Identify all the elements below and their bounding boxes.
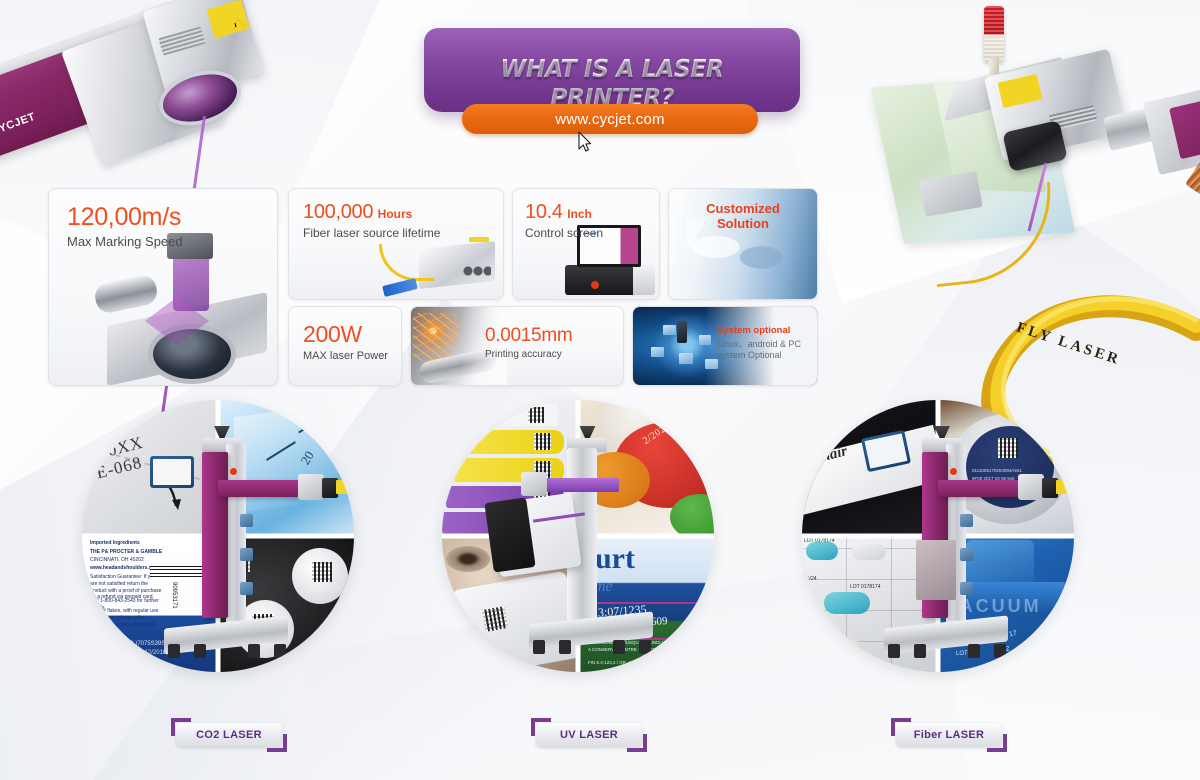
datamatrix-code bbox=[998, 438, 1018, 458]
website-url-button[interactable]: www.cycjet.com bbox=[462, 104, 758, 134]
spec-detail: Linux、android & PC system Optional bbox=[717, 337, 813, 360]
machine-foot bbox=[168, 644, 180, 658]
machine-cabinet-side bbox=[633, 265, 655, 295]
yellow-fiber-cord bbox=[379, 244, 434, 281]
fiber-blister-code-1: LOT 0178174 bbox=[804, 538, 835, 545]
machine-base bbox=[529, 611, 653, 650]
machine-slider bbox=[960, 514, 973, 527]
machine-slider bbox=[240, 548, 253, 561]
human-eye bbox=[446, 546, 490, 572]
signal-tower-lamp bbox=[984, 6, 1004, 62]
machine-slider bbox=[240, 582, 253, 595]
laser-source-yellow-label bbox=[469, 237, 489, 242]
tablet bbox=[836, 640, 866, 666]
label-city: CINCINNATI, OH 45202 bbox=[90, 557, 144, 564]
application-label-text: UV LASER bbox=[560, 729, 618, 741]
laser-marking-machine-right-photo bbox=[888, 0, 1200, 270]
spec-card-customized-solution[interactable]: Customized Solution bbox=[668, 188, 818, 300]
machine-foot bbox=[274, 644, 286, 658]
machine-base bbox=[884, 615, 1008, 654]
machine-foot bbox=[914, 644, 926, 658]
datamatrix-code bbox=[312, 562, 332, 582]
caution-label-icon bbox=[1056, 480, 1067, 494]
machine-slider bbox=[240, 514, 253, 527]
machine-arm-joint bbox=[1018, 474, 1044, 500]
label-pg-logo: P&G bbox=[90, 632, 107, 643]
machine-foot bbox=[613, 640, 625, 654]
co2-marking-machine bbox=[158, 422, 278, 672]
application-label-co2[interactable]: CO2 LASER bbox=[176, 723, 282, 747]
machine-arm bbox=[218, 480, 304, 497]
spec-value: 120,00m/s bbox=[67, 203, 183, 232]
machine-indicator bbox=[230, 468, 237, 475]
spec-text-block: 200W MAX laser Power bbox=[303, 321, 388, 362]
device-icon bbox=[663, 325, 676, 335]
label-site: www.headandshoulders.com bbox=[90, 565, 159, 572]
laser-marking-machine-left-photo: CYCJET bbox=[0, 0, 310, 220]
galvo-head-photo bbox=[89, 231, 278, 385]
spec-card-fiber-laser-lifetime[interactable]: 100,000 Hours Fiber laser source lifetim… bbox=[288, 188, 504, 300]
machine-arm-joint bbox=[298, 474, 324, 500]
fiber-blister-code-2: 05/24 bbox=[804, 576, 817, 583]
galvo-lens bbox=[153, 329, 231, 379]
fiber-blister-code-3: LOT 0178174 bbox=[850, 584, 881, 591]
datamatrix-code bbox=[528, 407, 544, 423]
machine-foot bbox=[639, 640, 651, 654]
label-note2: **based on volume sales bbox=[90, 615, 145, 622]
spec-caption: Fiber laser source lifetime bbox=[303, 226, 440, 240]
machine-arm bbox=[541, 478, 619, 492]
machine-foot bbox=[194, 644, 206, 658]
application-circle-fiber[interactable]: Zenair 0111005170204094A941 9F00 2017 03… bbox=[802, 400, 1074, 672]
machine-arm bbox=[938, 480, 1024, 497]
fiber-connector bbox=[382, 278, 418, 297]
machine-base bbox=[164, 615, 288, 654]
spec-text-block: Customized Solution bbox=[679, 201, 807, 231]
machine-foot bbox=[888, 644, 900, 658]
spec-caption: Customized Solution bbox=[679, 201, 807, 231]
spec-unit: Inch bbox=[567, 207, 592, 221]
spec-text-block: 120,00m/s Max Marking Speed bbox=[67, 203, 183, 249]
application-label-text: CO2 LASER bbox=[196, 729, 262, 741]
spec-card-system-optional[interactable]: System optional Linux、android & PC syste… bbox=[632, 306, 818, 386]
spec-card-max-marking-speed[interactable]: 120,00m/s Max Marking Speed bbox=[48, 188, 278, 386]
capsule bbox=[824, 592, 870, 614]
machine-foot bbox=[968, 644, 980, 658]
machine-slider bbox=[960, 582, 973, 595]
machine-arm-joint bbox=[521, 472, 547, 496]
spec-card-control-screen[interactable]: CYCJET 10.4 Inch Control screen bbox=[512, 188, 660, 300]
galvo-barrel bbox=[93, 273, 160, 315]
uv-marking-machine bbox=[523, 422, 643, 672]
spec-caption: Max Marking Speed bbox=[67, 234, 183, 249]
spec-card-max-laser-power[interactable]: 200W MAX laser Power bbox=[288, 306, 402, 386]
spec-text-block: 10.4 Inch Control screen bbox=[525, 201, 603, 240]
device-icon bbox=[679, 353, 693, 364]
application-label-uv[interactable]: UV LASER bbox=[536, 723, 642, 747]
poster-canvas: CYCJET FLY LASER bbox=[0, 0, 1200, 780]
emergency-stop-button bbox=[591, 281, 599, 289]
label-note1: *visible flakes, with regular use bbox=[90, 608, 158, 615]
machine-slider bbox=[960, 548, 973, 561]
machine-foot bbox=[248, 644, 260, 658]
warning-triangle-icon bbox=[231, 17, 245, 30]
spec-caption: Printing accuracy bbox=[485, 349, 572, 360]
application-circle-co2[interactable]: 20XX E-068 01 30 20 Imported Ingredients… bbox=[82, 400, 354, 672]
machine-column bbox=[202, 452, 228, 618]
spec-text-block: 0.0015mm Printing accuracy bbox=[485, 325, 572, 360]
spec-text-block: System optional Linux、android & PC syste… bbox=[717, 325, 813, 360]
application-label-fiber[interactable]: Fiber LASER bbox=[896, 723, 1002, 747]
website-url-label: www.cycjet.com bbox=[555, 111, 665, 128]
machine-lower-cover bbox=[916, 540, 956, 600]
caution-label-icon bbox=[336, 480, 347, 494]
machine-indicator bbox=[950, 468, 957, 475]
application-circle-uv[interactable]: 2/2025 SP gurt me 23:07/1235 20609 A CON… bbox=[442, 400, 714, 672]
spec-caption: System optional bbox=[717, 325, 813, 336]
device-icon bbox=[651, 347, 664, 357]
title-banner: WHAT IS A LASER PRINTER? bbox=[424, 28, 800, 112]
spec-unit: Hours bbox=[378, 207, 413, 221]
label-note3: Patents: www.pg.com/patents bbox=[90, 622, 156, 629]
mouse-cursor bbox=[578, 131, 592, 153]
machine-controller-screen bbox=[150, 456, 194, 488]
fiber-laser-source-photo bbox=[377, 235, 495, 293]
spec-value: 0.0015mm bbox=[485, 325, 572, 347]
spec-card-panel: 120,00m/s Max Marking Speed 100,000 Hour… bbox=[48, 188, 768, 384]
application-label-text: Fiber LASER bbox=[914, 729, 985, 741]
spec-caption: Control screen bbox=[525, 226, 603, 240]
datamatrix-code bbox=[482, 606, 507, 631]
machine-foot bbox=[533, 640, 545, 654]
spec-caption: MAX laser Power bbox=[303, 350, 388, 362]
spec-value: 100,000 bbox=[303, 201, 373, 223]
label-brand: Imported Ingredients bbox=[90, 540, 140, 547]
spec-value: 10.4 bbox=[525, 201, 563, 223]
fiber-marking-machine bbox=[878, 422, 998, 672]
handheld-device-icon bbox=[677, 321, 687, 343]
label-company: THE P& PROCTER & GAMBLE bbox=[90, 549, 162, 556]
spec-value: 200W bbox=[303, 321, 388, 348]
spec-card-printing-accuracy[interactable]: 0.0015mm Printing accuracy bbox=[410, 306, 624, 386]
machine-foot bbox=[994, 644, 1006, 658]
spec-text-block: 100,000 Hours Fiber laser source lifetim… bbox=[303, 201, 440, 240]
machine-foot bbox=[559, 640, 571, 654]
laser-source-ports bbox=[463, 265, 491, 277]
